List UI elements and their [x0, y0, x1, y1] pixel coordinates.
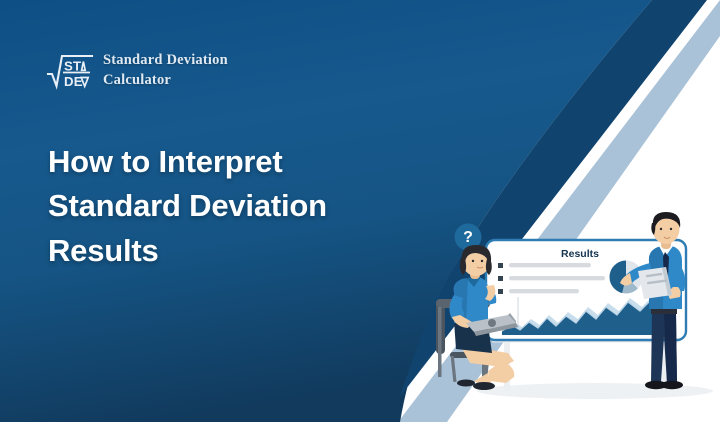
question-mark-icon: ? — [463, 229, 473, 246]
headline-line-1: How to Interpret — [48, 140, 388, 184]
svg-text:ST: ST — [64, 58, 81, 73]
brand-name: Standard Deviation Calculator — [103, 51, 228, 90]
area-chart — [502, 295, 654, 335]
board-title: Results — [561, 248, 599, 260]
brand-name-line2: Calculator — [103, 71, 228, 91]
page-title: How to Interpret Standard Deviation Resu… — [48, 140, 388, 273]
headline-line-3: Results — [48, 229, 388, 273]
headline-line-2: Standard Deviation — [48, 184, 388, 228]
brand-logo[interactable]: ST DE Standard Deviation Calculator — [46, 50, 228, 92]
sqrt-stadev-logo-icon: ST DE — [46, 50, 94, 92]
data-presentation-illustration: Results — [430, 195, 720, 422]
brand-name-line1: Standard Deviation — [103, 51, 228, 71]
clipboard — [638, 267, 672, 299]
banner-canvas: ST DE Standard Deviation Calculator How … — [0, 0, 720, 422]
svg-text:DE: DE — [64, 74, 83, 89]
